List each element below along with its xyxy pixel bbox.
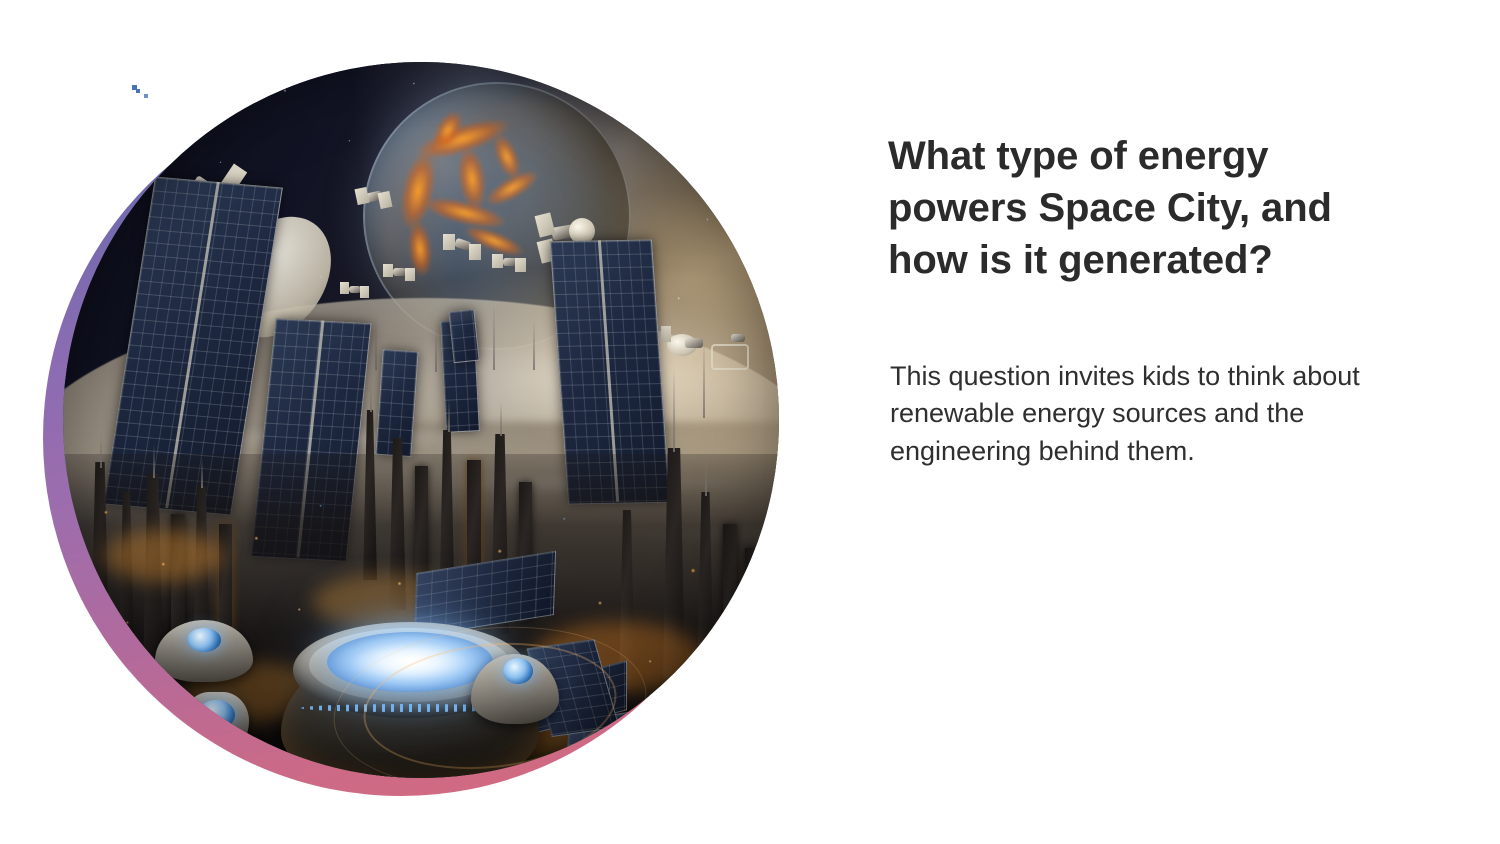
dome-orb-left — [187, 628, 221, 652]
slide-root: What type of energy powers Space City, a… — [0, 0, 1500, 844]
visual-block — [0, 0, 830, 844]
description-text: This question invites kids to think abou… — [890, 358, 1420, 470]
solar-array-tiny-right — [448, 309, 479, 363]
text-block: What type of energy powers Space City, a… — [888, 0, 1448, 844]
artifact-dot-2 — [136, 89, 140, 93]
page-title: What type of energy powers Space City, a… — [888, 130, 1408, 286]
space-city-image — [63, 62, 779, 778]
artifact-dot-3 — [144, 94, 148, 98]
dome-orb-lower-left — [197, 700, 235, 730]
